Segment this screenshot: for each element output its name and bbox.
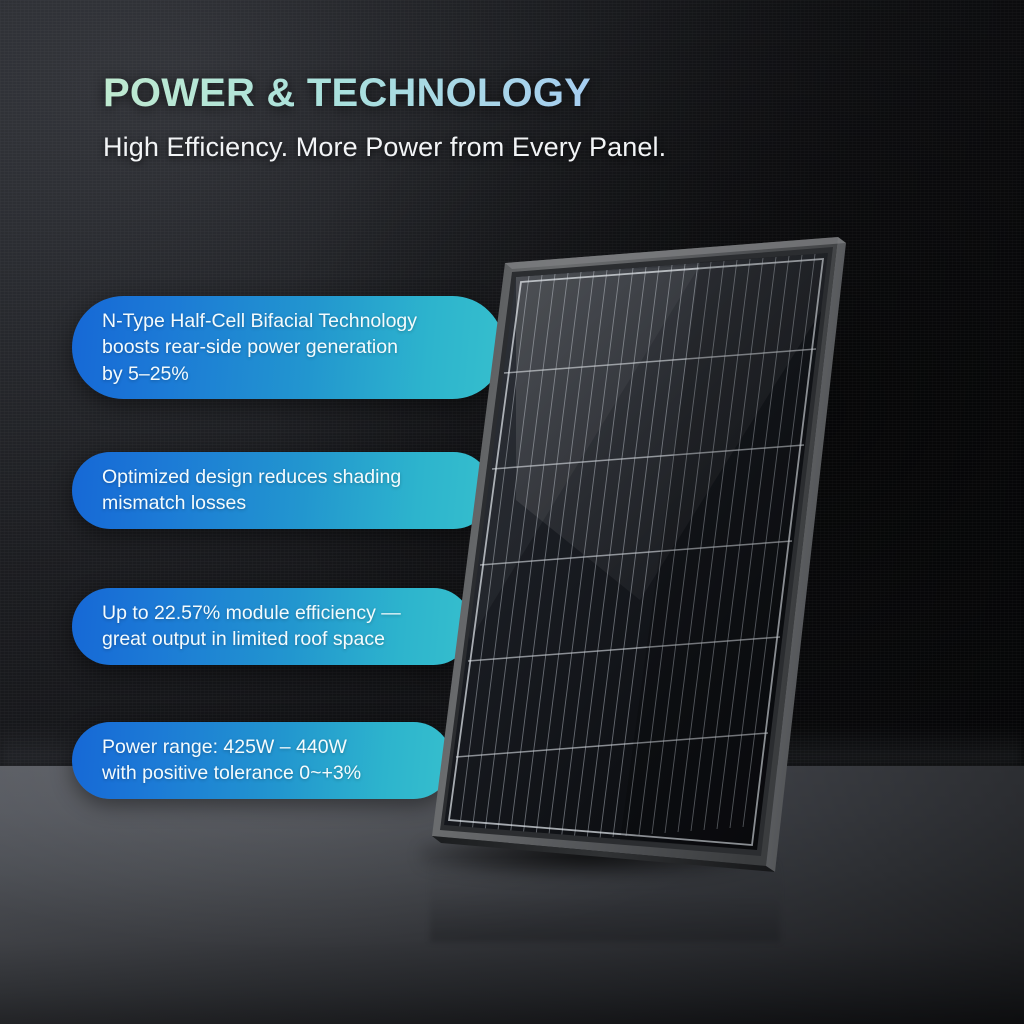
feature-pill-power-range[interactable]: Power range: 425W – 440W with positive t… [72, 722, 452, 799]
header-block: POWER & TECHNOLOGYHigh Efficiency. More … [103, 72, 903, 163]
feature-pill-bifacial-technology[interactable]: N-Type Half-Cell Bifacial Technology boo… [72, 296, 504, 399]
poster-canvas: N-Type Half-Cell Bifacial Technology boo… [0, 0, 1024, 1024]
feature-pill-shading-mismatch[interactable]: Optimized design reduces shading mismatc… [72, 452, 492, 529]
page-title: POWER & TECHNOLOGY [103, 72, 903, 114]
feature-pill-label: Power range: 425W – 440W with positive t… [102, 734, 361, 787]
feature-pill-label: N-Type Half-Cell Bifacial Technology boo… [102, 308, 417, 387]
page-subtitle: High Efficiency. More Power from Every P… [103, 132, 903, 163]
panel-floor-reflection [430, 856, 780, 942]
feature-pill-label: Optimized design reduces shading mismatc… [102, 464, 401, 517]
feature-pill-module-efficiency[interactable]: Up to 22.57% module efficiency — great o… [72, 588, 472, 665]
feature-pill-label: Up to 22.57% module efficiency — great o… [102, 600, 401, 653]
